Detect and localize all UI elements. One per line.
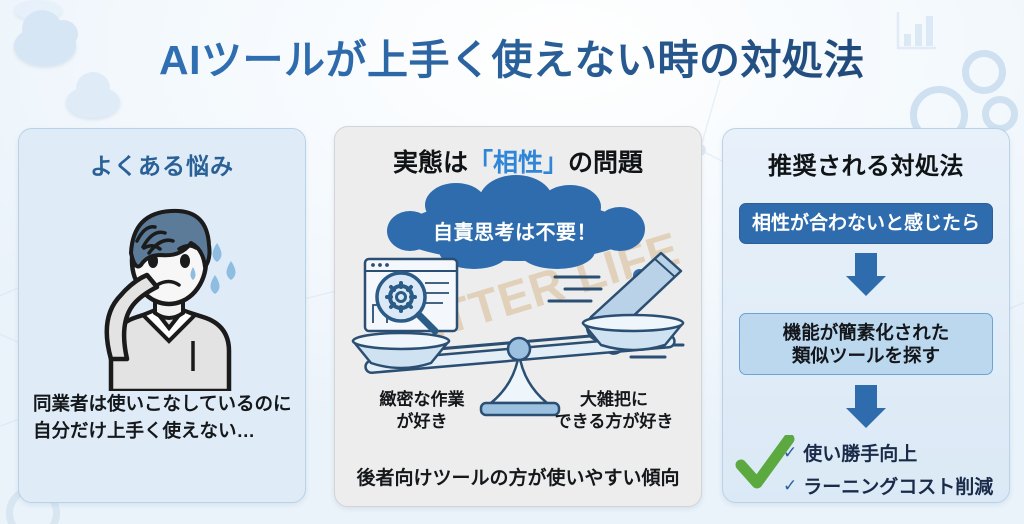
result-label: 使い勝手向上 [803,439,917,466]
list-item: ✓ 使い勝手向上 [783,439,1001,466]
worried-man-icon [19,191,305,391]
page-title: AIツールが上手く使えない時の対処法 [0,26,1024,86]
scale-label-left-line1: 緻密な作業 [357,389,487,411]
check-mark-icon: ✓ [783,476,797,496]
cloud-icon [66,86,120,118]
thought-bubble: 自責思考は不要！ [399,199,631,261]
panel-recommended-solution: 推奨される対処法 相性が合わないと感じたら 機能が簡素化された 類似ツールを探す… [722,128,1010,503]
heading-highlight: 「相性」 [468,149,568,177]
panel-middle-heading: 実態は「相性」の問題 [335,143,701,179]
scale-label-left-line2: が好き [357,411,487,433]
panel-right-heading: 推奨される対処法 [723,146,1009,181]
list-item: ✓ ラーニングコスト削減 [783,472,1001,499]
heading-part2: の問題 [568,149,643,177]
result-list: ✓ 使い勝手向上 ✓ ラーニングコスト削減 [783,439,1001,505]
heading-part1: 実態は [393,149,468,177]
flow-step-2-line1: 機能が簡素化された [783,321,950,344]
scale-label-left: 緻密な作業 が好き [357,389,487,433]
panel-reality-compatibility: 実態は「相性」の問題 BETTER LIFE 自責思考は不要！ [334,126,702,507]
scale-label-right-line2: できる方が好き [539,411,689,433]
scale-label-right-line1: 大雑把に [539,389,689,411]
panel-common-problem: よくある悩み [18,128,306,503]
result-label: ラーニングコスト削減 [803,472,993,499]
scale-label-right: 大雑把に できる方が好き [539,389,689,433]
check-mark-icon: ✓ [783,443,797,463]
panel-middle-footer: 後者向けツールの方が使いやすい傾向 [335,463,701,490]
gear-icon [982,96,1018,132]
cloud-icon [14,0,62,20]
infographic-slide: AIツールが上手く使えない時の対処法 よくある悩み [0,0,1024,524]
flow-step-2: 機能が簡素化された 類似ツールを探す [739,313,993,375]
flow-step-1: 相性が合わないと感じたら [739,203,993,244]
thought-bubble-text: 自責思考は不要！ [399,199,631,261]
flow-step-2-line2: 類似ツールを探す [783,344,950,367]
browser-magnifier-gear-icon [365,259,457,331]
panel-left-heading: よくある悩み [19,147,305,181]
panel-left-body: 同業者は使いこなしているのに自分だけ上手く使えない… [33,391,295,445]
